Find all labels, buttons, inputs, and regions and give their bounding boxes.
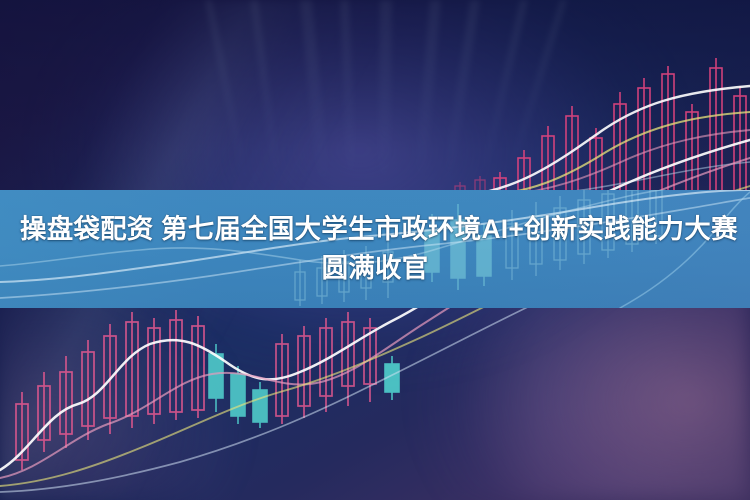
banner-image: 操盘袋配资 第七届全国大学生市政环境AI+创新实践能力大赛 圆满收官 [0,0,750,500]
title-line-2: 圆满收官 [322,249,429,288]
banner-title: 操盘袋配资 第七届全国大学生市政环境AI+创新实践能力大赛 圆满收官 [0,190,750,308]
title-line-1: 操盘袋配资 第七届全国大学生市政环境AI+创新实践能力大赛 [0,210,750,249]
